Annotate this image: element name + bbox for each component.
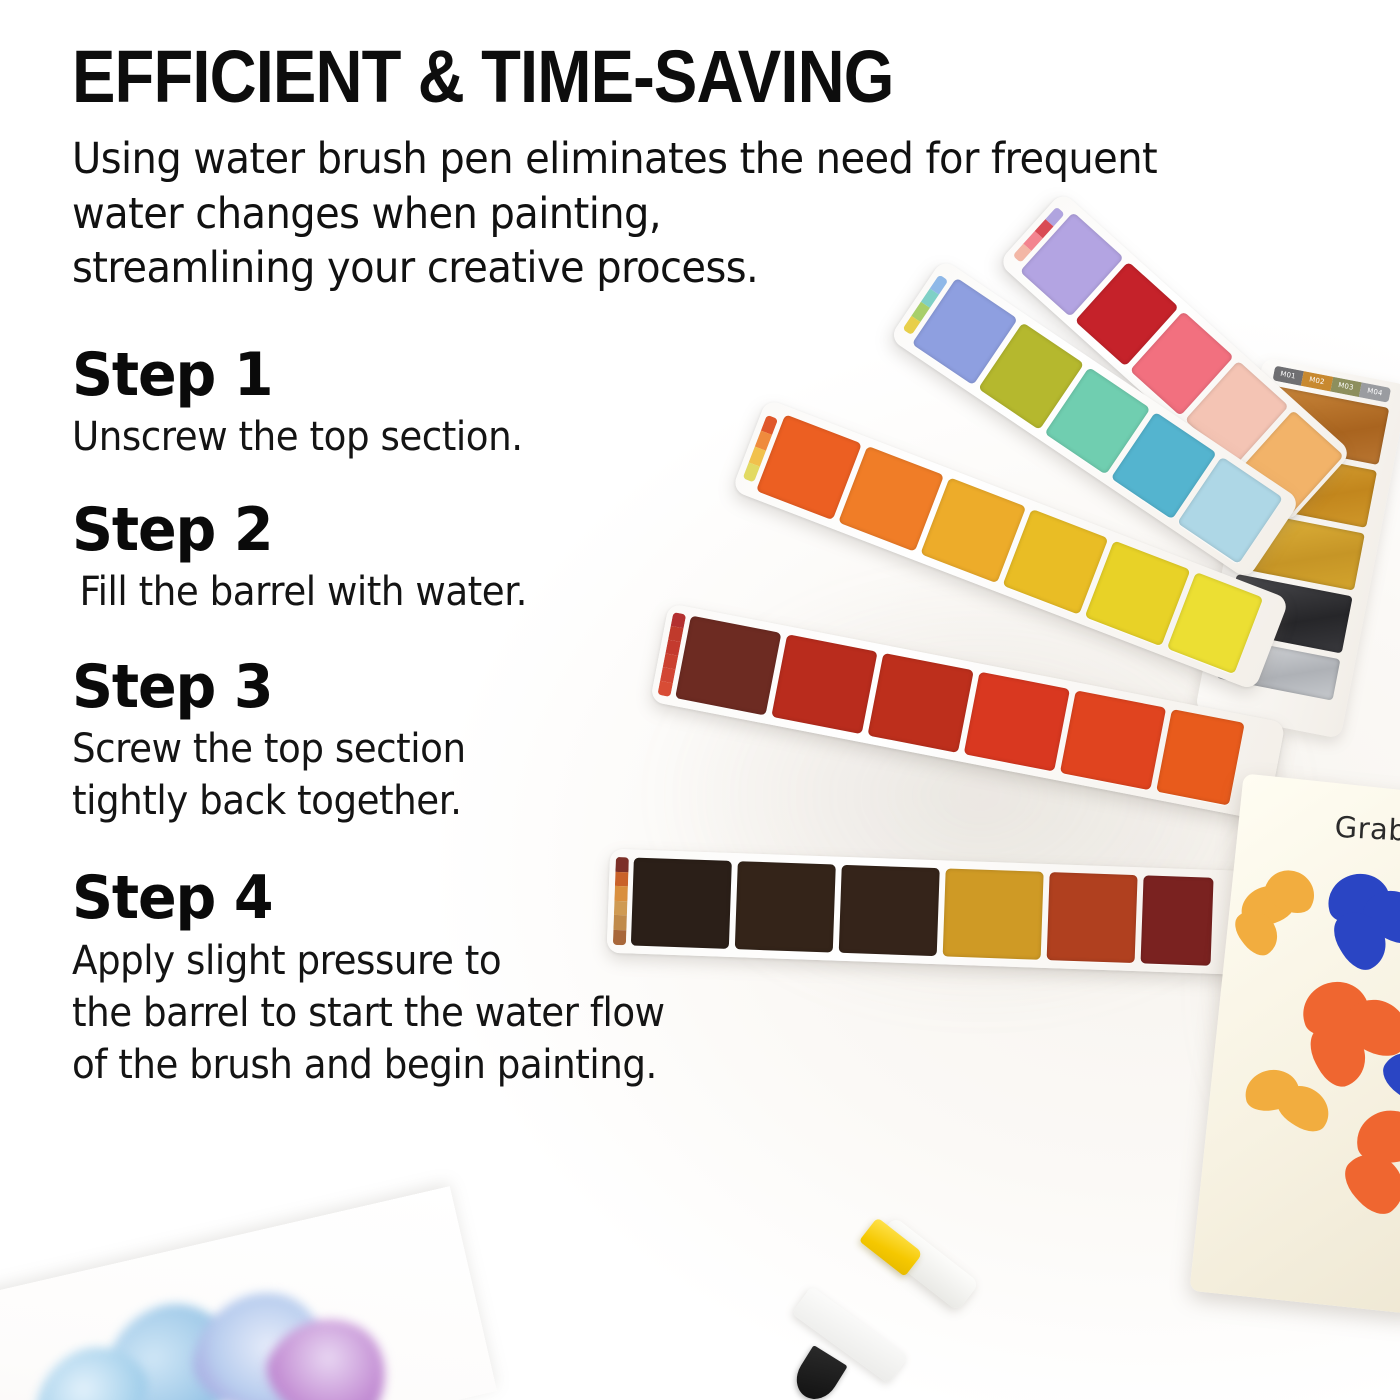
step-3-body: Screw the top section tightly back toget… xyxy=(72,723,1235,827)
step-2-line-1: Fill the barrel with water. xyxy=(79,566,1234,618)
step-3-line-2: tightly back together. xyxy=(72,775,1235,827)
intro-line-2: water changes when painting, xyxy=(72,187,1235,242)
intro-paragraph: Using water brush pen eliminates the nee… xyxy=(72,132,1235,296)
intro-line-3: streamlining your creative process. xyxy=(72,241,1235,296)
step-item-3: Step 3 Screw the top section tightly bac… xyxy=(72,654,1322,827)
step-1-heading: Step 1 xyxy=(72,342,1260,409)
step-1-line-1: Unscrew the top section. xyxy=(72,411,1235,463)
step-item-1: Step 1 Unscrew the top section. xyxy=(72,342,1322,463)
step-4-line-2: the barrel to start the water flow xyxy=(72,987,1235,1039)
step-4-heading: Step 4 xyxy=(72,865,1260,932)
step-1-body: Unscrew the top section. xyxy=(72,411,1235,463)
step-2-heading: Step 2 xyxy=(72,497,1260,564)
step-4-line-3: of the brush and begin painting. xyxy=(72,1039,1235,1091)
step-item-2: Step 2 Fill the barrel with water. xyxy=(72,497,1322,618)
product-infographic: M01 M02 M03 M04 xyxy=(0,0,1400,1400)
step-3-heading: Step 3 xyxy=(72,654,1260,721)
step-item-4: Step 4 Apply slight pressure to the barr… xyxy=(72,865,1322,1090)
step-4-body: Apply slight pressure to the barrel to s… xyxy=(72,935,1235,1091)
steps-list: Step 1 Unscrew the top section. Step 2 F… xyxy=(72,342,1322,1091)
intro-line-1: Using water brush pen eliminates the nee… xyxy=(72,132,1235,187)
step-2-body: Fill the barrel with water. xyxy=(72,566,1235,618)
page-title: EFFICIENT & TIME-SAVING xyxy=(72,40,1172,114)
instruction-text-column: EFFICIENT & TIME-SAVING Using water brus… xyxy=(72,40,1322,1101)
brand-label: Grabie xyxy=(1334,810,1400,849)
step-3-line-1: Screw the top section xyxy=(72,723,1235,775)
step-4-line-1: Apply slight pressure to xyxy=(72,935,1235,987)
